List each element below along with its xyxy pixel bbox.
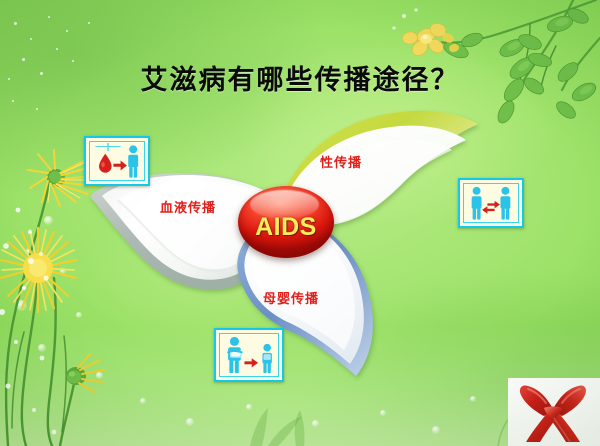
poster-canvas: AIDS 血液传播 性传播 母婴传播 艾滋病有哪些传播途径？ — [0, 0, 600, 446]
background-vignette — [0, 0, 600, 446]
